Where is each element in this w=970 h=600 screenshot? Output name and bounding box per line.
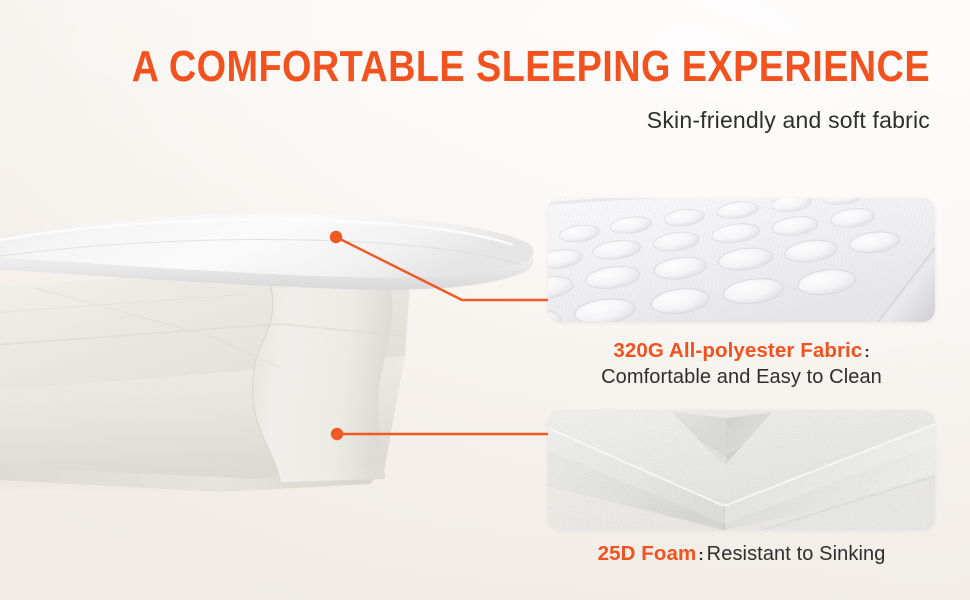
foam-block-illustration xyxy=(548,410,935,530)
feature-separator-foam: : xyxy=(696,547,703,564)
quilted-fabric-illustration xyxy=(548,198,935,322)
feature-description-foam: Resistant to Sinking xyxy=(704,543,886,565)
feature-photo-fabric xyxy=(548,198,935,322)
feature-label-fabric: 320G All-polyester Fabric xyxy=(613,339,862,362)
feature-description-fabric: Comfortable and Easy to Clean xyxy=(548,364,935,391)
feature-caption-fabric: 320G All-polyester Fabric: Comfortable a… xyxy=(548,338,935,391)
feature-separator-fabric: : xyxy=(862,344,869,361)
feature-label-row-fabric: 320G All-polyester Fabric: xyxy=(548,338,935,364)
page-subtitle: Skin-friendly and soft fabric xyxy=(0,105,930,135)
page-title: A COMFORTABLE SLEEPING EXPERIENCE xyxy=(130,42,930,92)
feature-caption-foam: 25D Foam:Resistant to Sinking xyxy=(548,541,935,568)
mattress-illustration xyxy=(0,196,550,526)
feature-label-foam: 25D Foam xyxy=(598,542,697,565)
feature-photo-foam xyxy=(548,410,935,530)
foam-mattress-photo xyxy=(0,196,550,526)
product-feature-banner: A COMFORTABLE SLEEPING EXPERIENCE Skin-f… xyxy=(0,0,970,600)
